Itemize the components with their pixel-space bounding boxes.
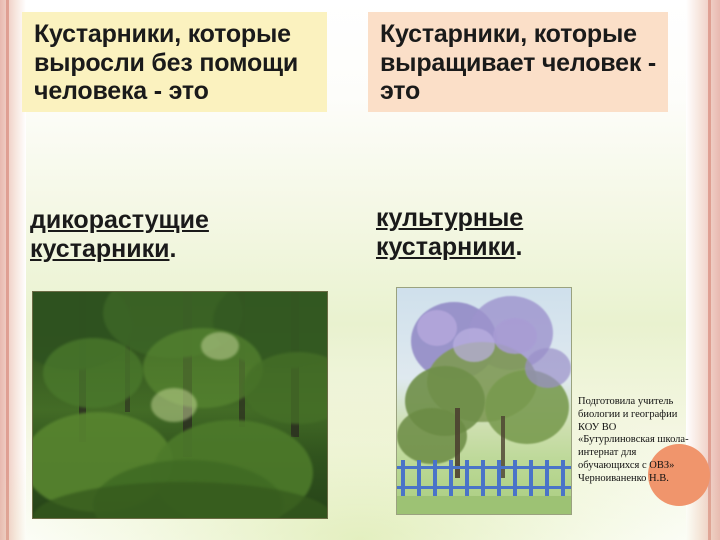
author-credit-text: Подготовила учитель биологии и географии…: [578, 396, 690, 486]
wild-shrubs-definition-box: Кустарники, которые выросли без помощи ч…: [22, 12, 327, 112]
right-border-stripe: [708, 0, 711, 540]
forest-photo: [32, 291, 328, 519]
cultivated-shrubs-definition-box: Кустарники, которые выращивает человек -…: [368, 12, 668, 112]
wild-shrubs-term: дикорастущие кустарники.: [30, 206, 350, 264]
blue-fence: [397, 460, 572, 500]
cultivated-shrubs-term: культурные кустарники.: [376, 204, 676, 262]
wild-shrubs-term-period: .: [169, 235, 176, 263]
lilac-photo: [396, 287, 572, 515]
wild-shrubs-term-underlined: дикорастущие кустарники: [30, 206, 209, 263]
cultivated-shrubs-term-underlined: культурные кустарники: [376, 204, 523, 261]
cultivated-shrubs-term-period: .: [515, 233, 522, 261]
slide-canvas: Кустарники, которые выросли без помощи ч…: [0, 0, 720, 540]
left-border-stripe: [6, 0, 9, 540]
